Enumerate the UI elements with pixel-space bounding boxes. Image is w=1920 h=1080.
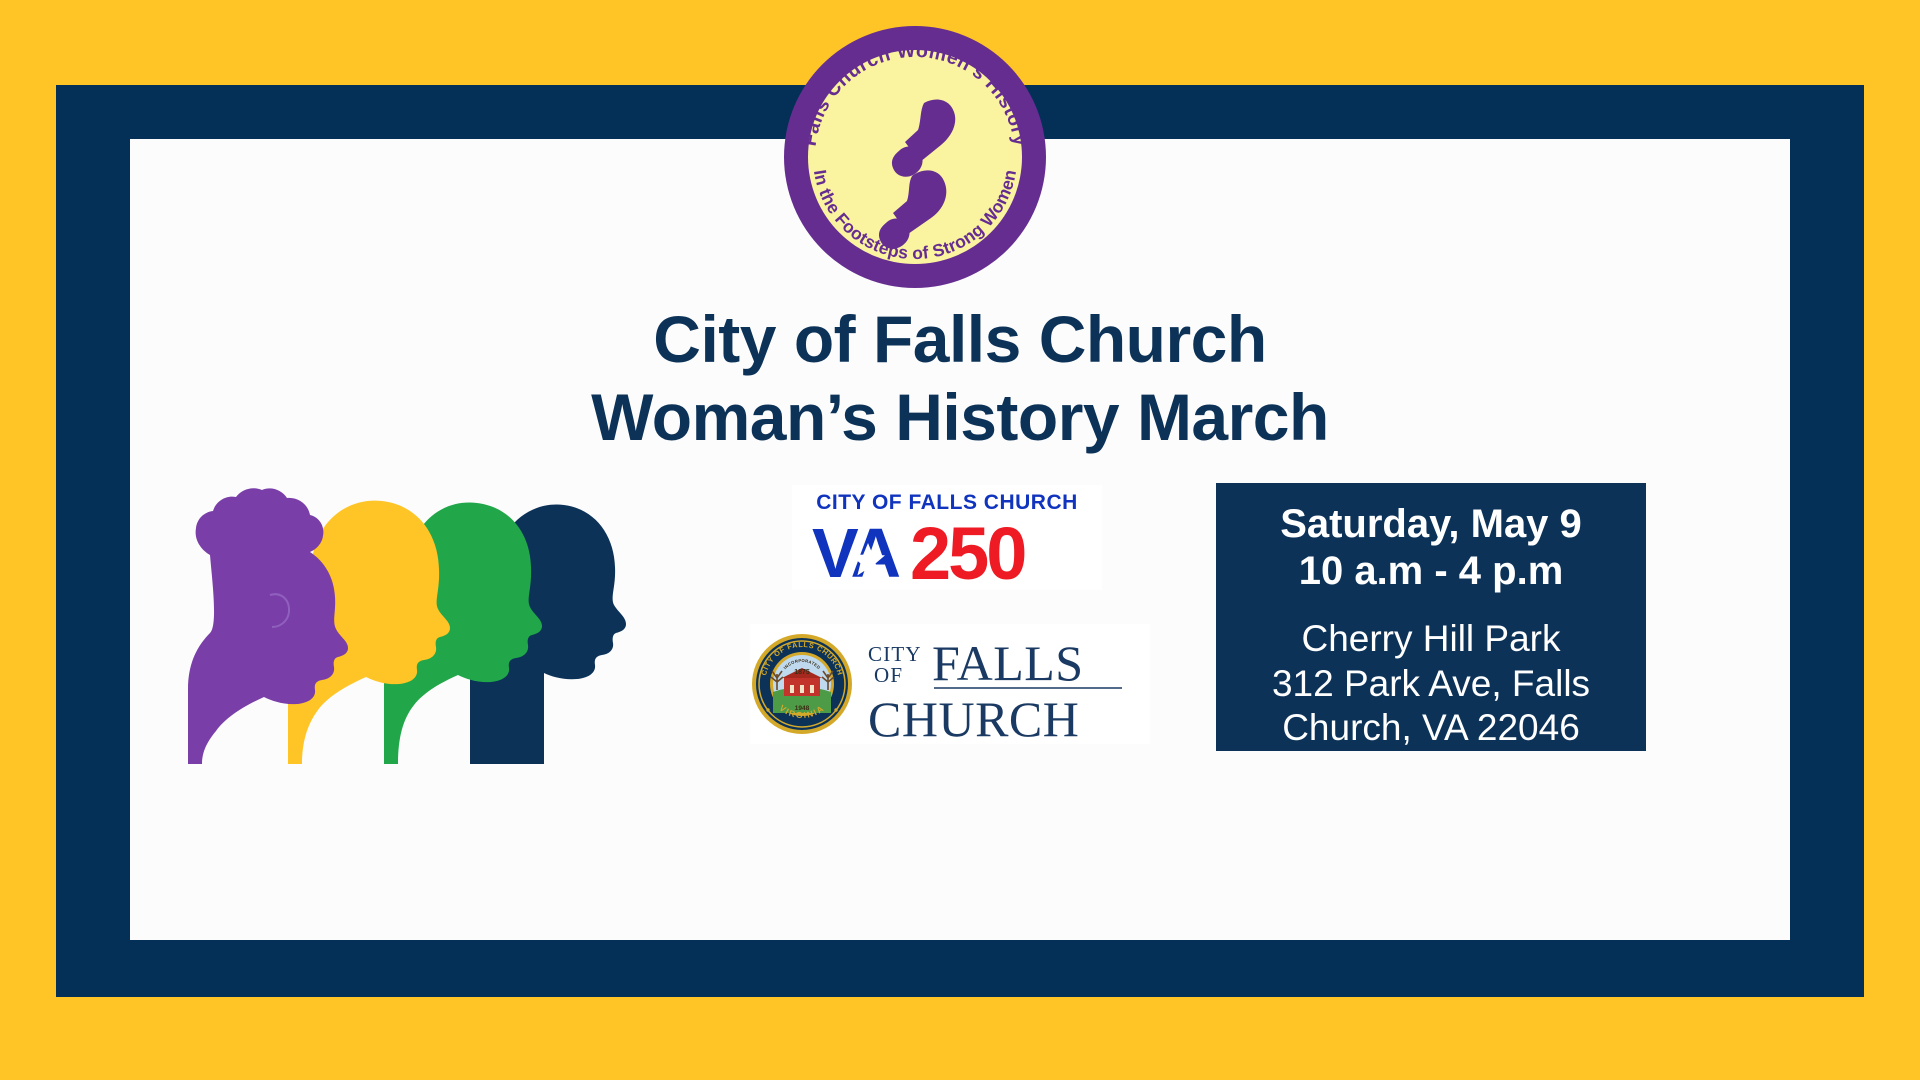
event-location: Cherry Hill Park 312 Park Ave, Falls Chu…	[1230, 617, 1632, 750]
venue-city-state-zip: Church, VA 22046	[1230, 706, 1632, 750]
lower-row: CITY OF FALLS CHURCH VA 250	[130, 479, 1790, 779]
event-date: Saturday, May 9	[1230, 501, 1632, 548]
falls-church-womens-history-badge: Falls Church Women’s History In the Foot…	[784, 26, 1046, 288]
event-flyer: City of Falls Church Woman’s History Mar…	[0, 0, 1920, 1080]
venue-name: Cherry Hill Park	[1230, 617, 1632, 661]
venue-street: 312 Park Ave, Falls	[1230, 662, 1632, 706]
va250-top-line: CITY OF FALLS CHURCH	[816, 491, 1078, 514]
headline-line-2: Woman’s History March	[130, 379, 1790, 457]
women-silhouettes-illustration	[152, 479, 652, 764]
event-datetime: Saturday, May 9 10 a.m - 4 p.m	[1230, 501, 1632, 595]
event-details-box: Saturday, May 9 10 a.m - 4 p.m Cherry Hi…	[1216, 483, 1646, 751]
va250-logo: CITY OF FALLS CHURCH VA 250	[792, 485, 1102, 590]
city-of-falls-church-logo: CITY OF FALLS CHURCH VIRGINIA INCORPORAT…	[750, 624, 1150, 744]
va250-va-mark: VA	[812, 514, 899, 590]
va250-250-mark: 250	[910, 512, 1025, 590]
headline-line-1: City of Falls Church	[130, 301, 1790, 379]
event-time: 10 a.m - 4 p.m	[1230, 548, 1632, 595]
seal-year-top: 1875	[794, 669, 810, 676]
wordmark-of: OF	[874, 663, 903, 687]
wordmark-falls: FALLS	[932, 635, 1084, 691]
page-title: City of Falls Church Woman’s History Mar…	[130, 301, 1790, 457]
partner-logos: CITY OF FALLS CHURCH VA 250	[742, 479, 1162, 779]
wordmark-church: CHURCH	[868, 691, 1079, 744]
seal-year-bottom: 1948	[795, 705, 810, 712]
city-seal-icon: CITY OF FALLS CHURCH VIRGINIA INCORPORAT…	[752, 634, 852, 734]
